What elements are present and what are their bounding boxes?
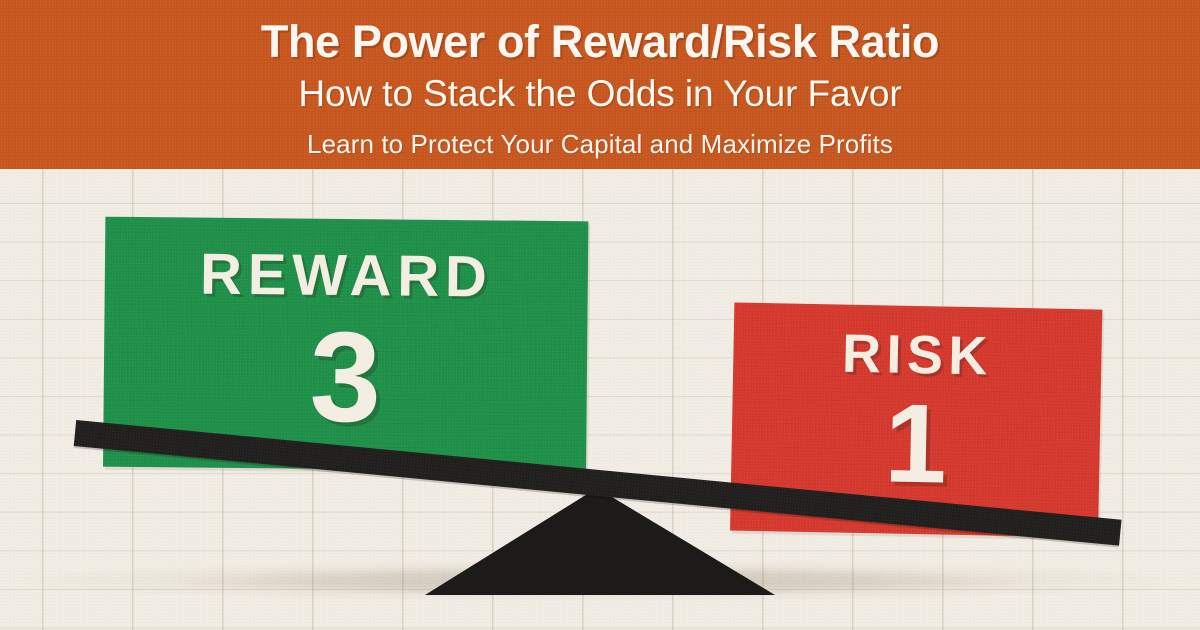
reward-panel-value: 3 <box>309 323 381 434</box>
header-band: The Power of Reward/Risk Ratio How to St… <box>0 0 1200 169</box>
risk-panel-label: RISK <box>842 327 994 384</box>
risk-panel-value: 1 <box>884 395 948 492</box>
page-subtitle: How to Stack the Odds in Your Favor <box>298 74 901 115</box>
page-title: The Power of Reward/Risk Ratio <box>261 19 939 66</box>
poster-canvas: REWARD 3 RISK 1 The Power of Reward/Risk… <box>0 0 1200 630</box>
reward-panel-label: REWARD <box>200 246 493 307</box>
page-tagline: Learn to Protect Your Capital and Maximi… <box>307 129 893 160</box>
